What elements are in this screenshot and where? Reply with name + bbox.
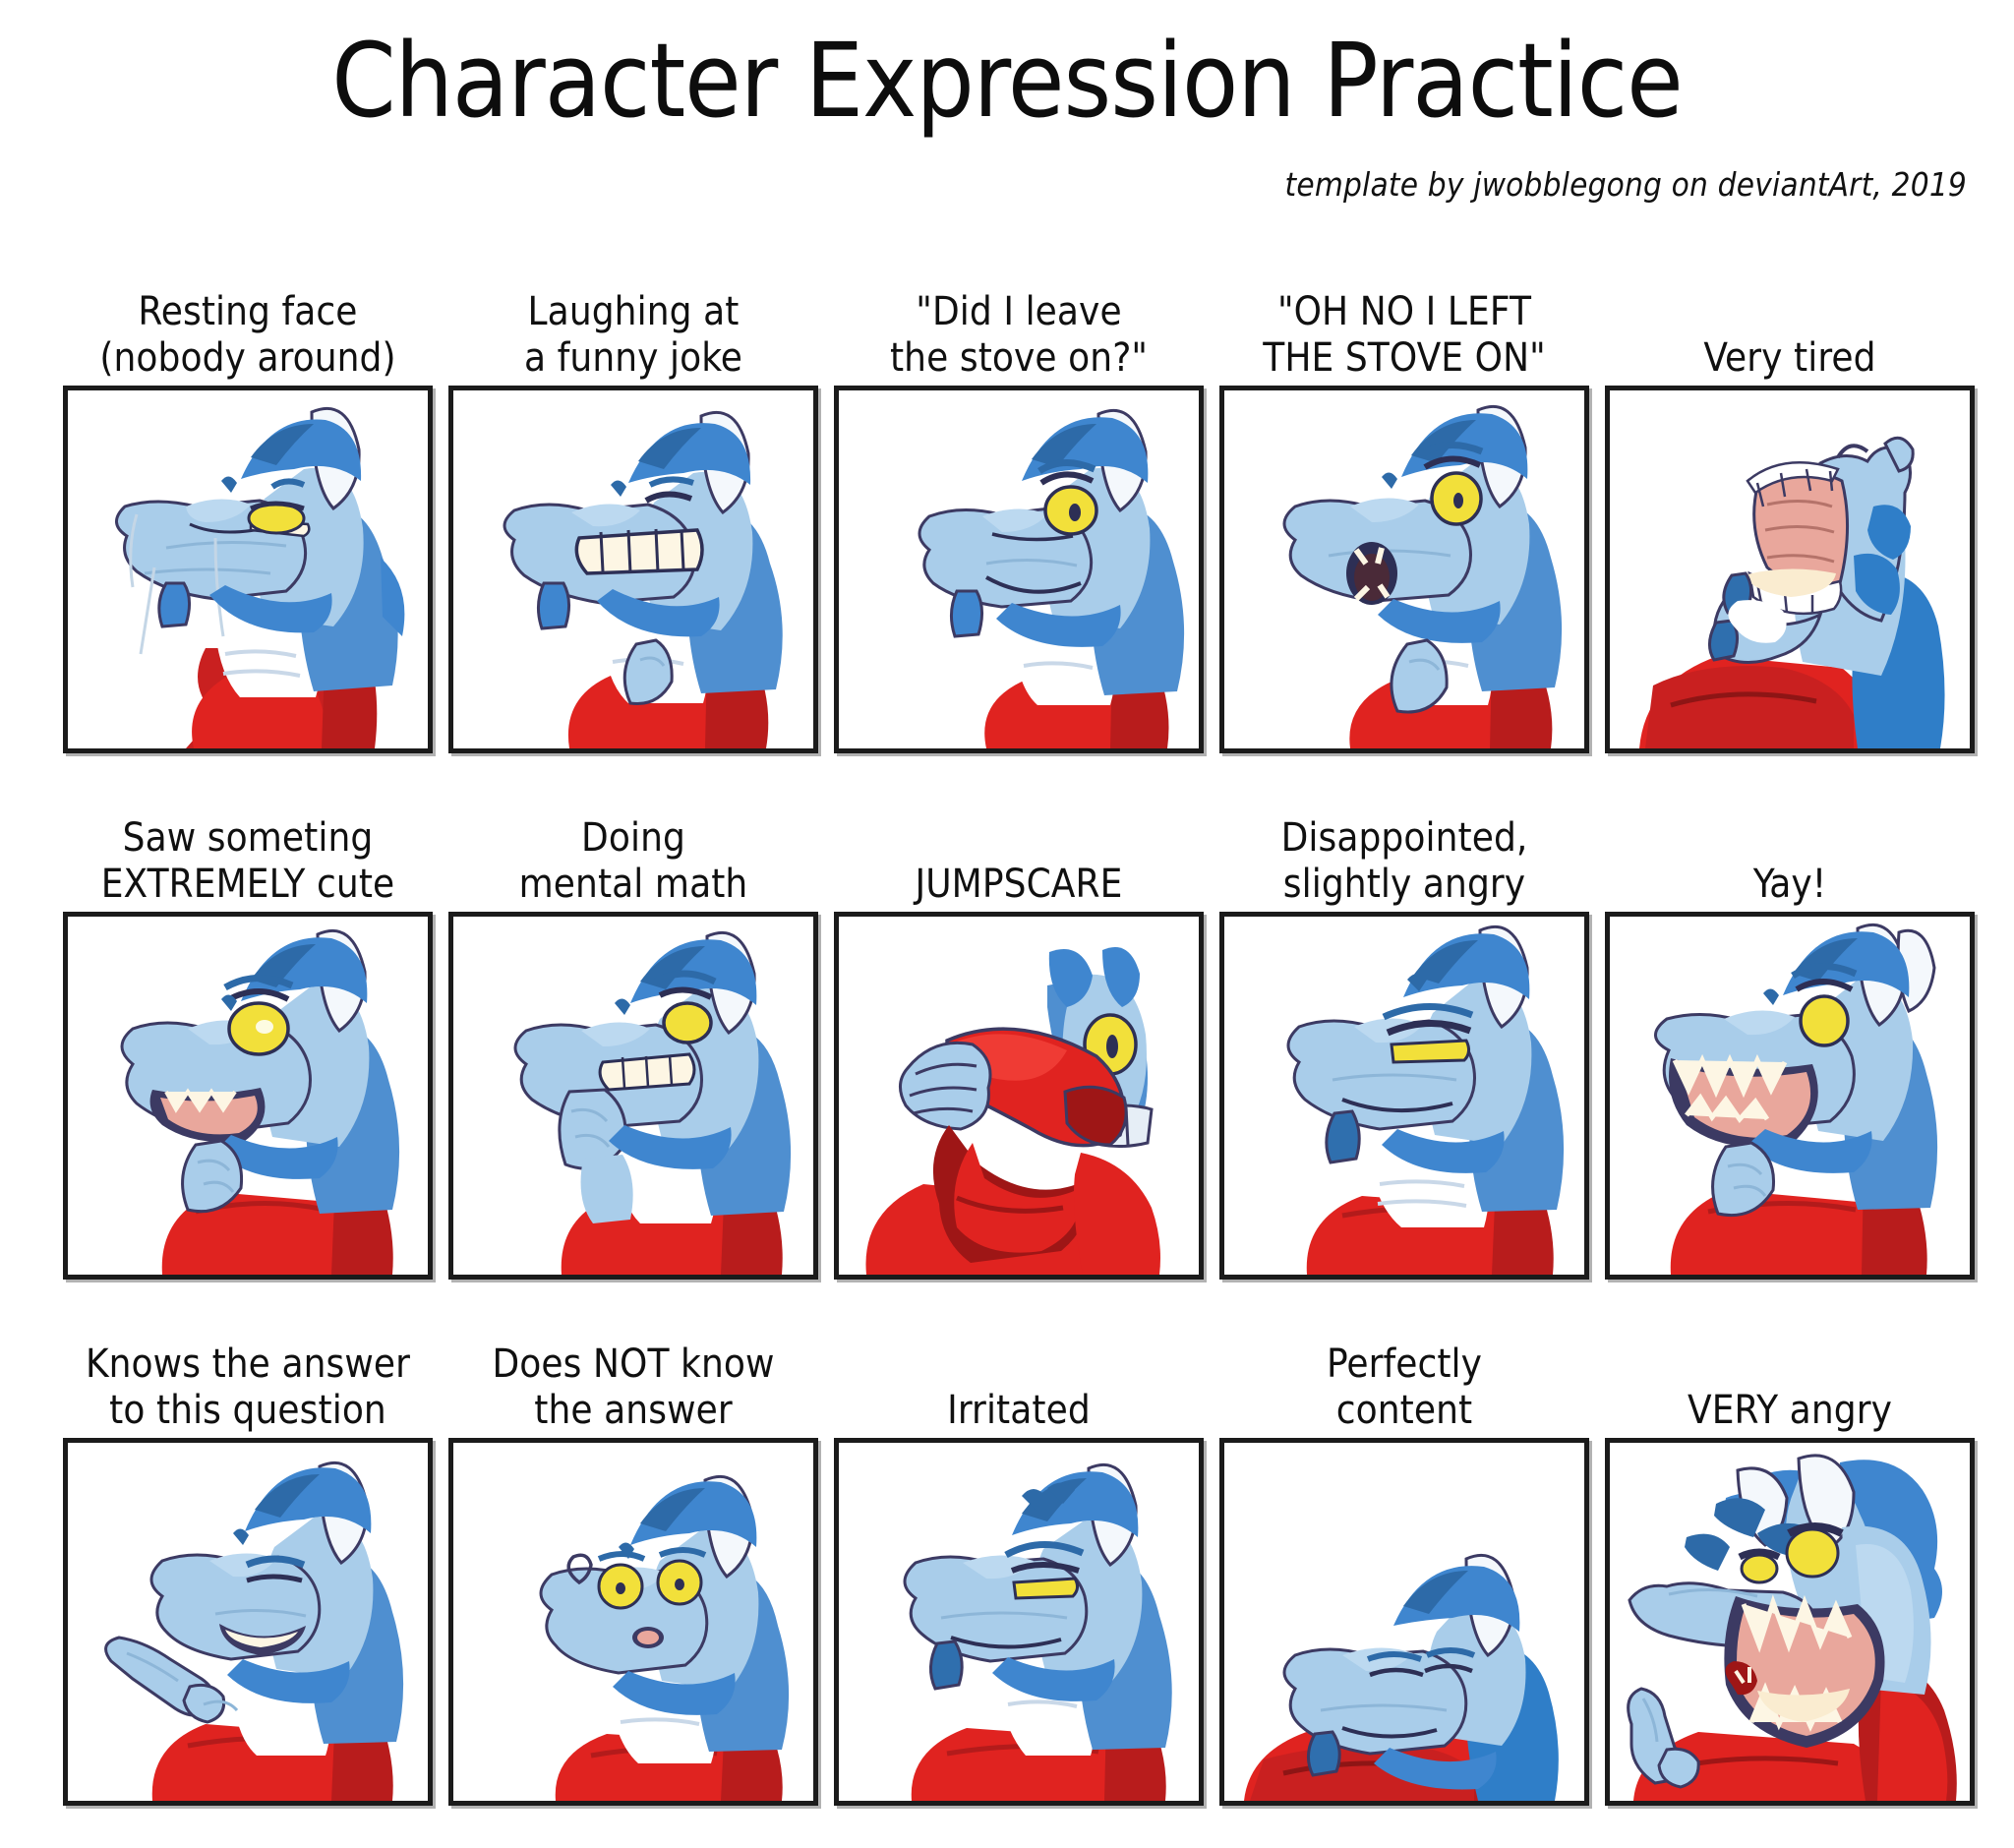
character-art-smug (68, 1443, 428, 1801)
expression-row-3: Knows the answer to this question (63, 1310, 1951, 1806)
expression-meme-sheet: Character Expression Practice template b… (0, 0, 2014, 1848)
expression-cell-mental-math[interactable]: Doing mental math (448, 784, 818, 1280)
expression-caption: Doing mental math (441, 784, 826, 912)
expression-caption: "OH NO I LEFT THE STOVE ON" (1212, 258, 1597, 386)
expression-panel-jumpscare[interactable] (834, 912, 1204, 1280)
expression-caption: "Did I leave the stove on?" (826, 258, 1212, 386)
expression-panel-mental-math[interactable] (448, 912, 818, 1280)
expression-caption: VERY angry (1597, 1310, 1983, 1438)
expression-cell-resting-face[interactable]: Resting face (nobody around) (63, 258, 433, 753)
expression-caption: Yay! (1597, 784, 1983, 912)
expression-cell-does-not-know[interactable]: Does NOT know the answer (448, 1310, 818, 1806)
expression-panel-very-angry[interactable] (1605, 1438, 1975, 1806)
expression-row-2: Saw someting EXTREMELY cute (63, 784, 1951, 1280)
expression-cell-perfectly-content[interactable]: Perfectly content (1219, 1310, 1589, 1806)
expression-cell-stove-panic[interactable]: "OH NO I LEFT THE STOVE ON" (1219, 258, 1589, 753)
character-art-disappointed (1224, 917, 1584, 1275)
expression-grid: Resting face (nobody around) (63, 258, 1951, 1836)
expression-panel-very-tired[interactable] (1605, 386, 1975, 753)
expression-cell-jumpscare[interactable]: JUMPSCARE (834, 784, 1204, 1280)
expression-caption: JUMPSCARE (826, 784, 1212, 912)
expression-cell-saw-cute[interactable]: Saw someting EXTREMELY cute (63, 784, 433, 1280)
character-art-yay (1610, 917, 1970, 1275)
expression-panel-saw-cute[interactable] (63, 912, 433, 1280)
expression-panel-resting-face[interactable] (63, 386, 433, 753)
expression-caption: Laughing at a funny joke (441, 258, 826, 386)
expression-panel-disappointed[interactable] (1219, 912, 1589, 1280)
expression-cell-very-tired[interactable]: Very tired (1605, 258, 1975, 753)
expression-cell-knows-answer[interactable]: Knows the answer to this question (63, 1310, 433, 1806)
expression-cell-laughing[interactable]: Laughing at a funny joke (448, 258, 818, 753)
character-art-delighted (68, 917, 428, 1275)
expression-caption: Knows the answer to this question (55, 1310, 441, 1438)
expression-panel-laughing[interactable] (448, 386, 818, 753)
expression-panel-perfectly-content[interactable] (1219, 1438, 1589, 1806)
expression-panel-stove-question[interactable] (834, 386, 1204, 753)
character-art-thinking (453, 917, 813, 1275)
expression-caption: Resting face (nobody around) (55, 258, 441, 386)
expression-cell-stove-question[interactable]: "Did I leave the stove on?" (834, 258, 1204, 753)
expression-cell-very-angry[interactable]: VERY angry (1605, 1310, 1975, 1806)
expression-caption: Very tired (1597, 258, 1983, 386)
character-art-yawning (1610, 390, 1970, 748)
expression-panel-stove-panic[interactable] (1219, 386, 1589, 753)
character-art-content (1224, 1443, 1584, 1801)
character-art-irritated (839, 1443, 1199, 1801)
character-art-resting (68, 390, 428, 748)
expression-caption: Does NOT know the answer (441, 1310, 826, 1438)
page-title: Character Expression Practice (0, 28, 2014, 135)
expression-row-1: Resting face (nobody around) (63, 258, 1951, 753)
expression-cell-irritated[interactable]: Irritated (834, 1310, 1204, 1806)
template-credit: template by jwobblegong on deviantArt, 2… (1285, 165, 1967, 204)
character-art-clueless (453, 1443, 813, 1801)
character-art-furious (1610, 1443, 1970, 1801)
expression-panel-does-not-know[interactable] (448, 1438, 818, 1806)
character-art-jumpscare (839, 917, 1199, 1275)
expression-panel-yay[interactable] (1605, 912, 1975, 1280)
character-art-laughing (453, 390, 813, 748)
expression-cell-disappointed[interactable]: Disappointed, slightly angry (1219, 784, 1589, 1280)
expression-caption: Saw someting EXTREMELY cute (55, 784, 441, 912)
expression-cell-yay[interactable]: Yay! (1605, 784, 1975, 1280)
expression-panel-knows-answer[interactable] (63, 1438, 433, 1806)
expression-caption: Perfectly content (1212, 1310, 1597, 1438)
expression-caption: Irritated (826, 1310, 1212, 1438)
expression-panel-irritated[interactable] (834, 1438, 1204, 1806)
expression-caption: Disappointed, slightly angry (1212, 784, 1597, 912)
character-art-worried (839, 390, 1199, 748)
character-art-panic (1224, 390, 1584, 748)
